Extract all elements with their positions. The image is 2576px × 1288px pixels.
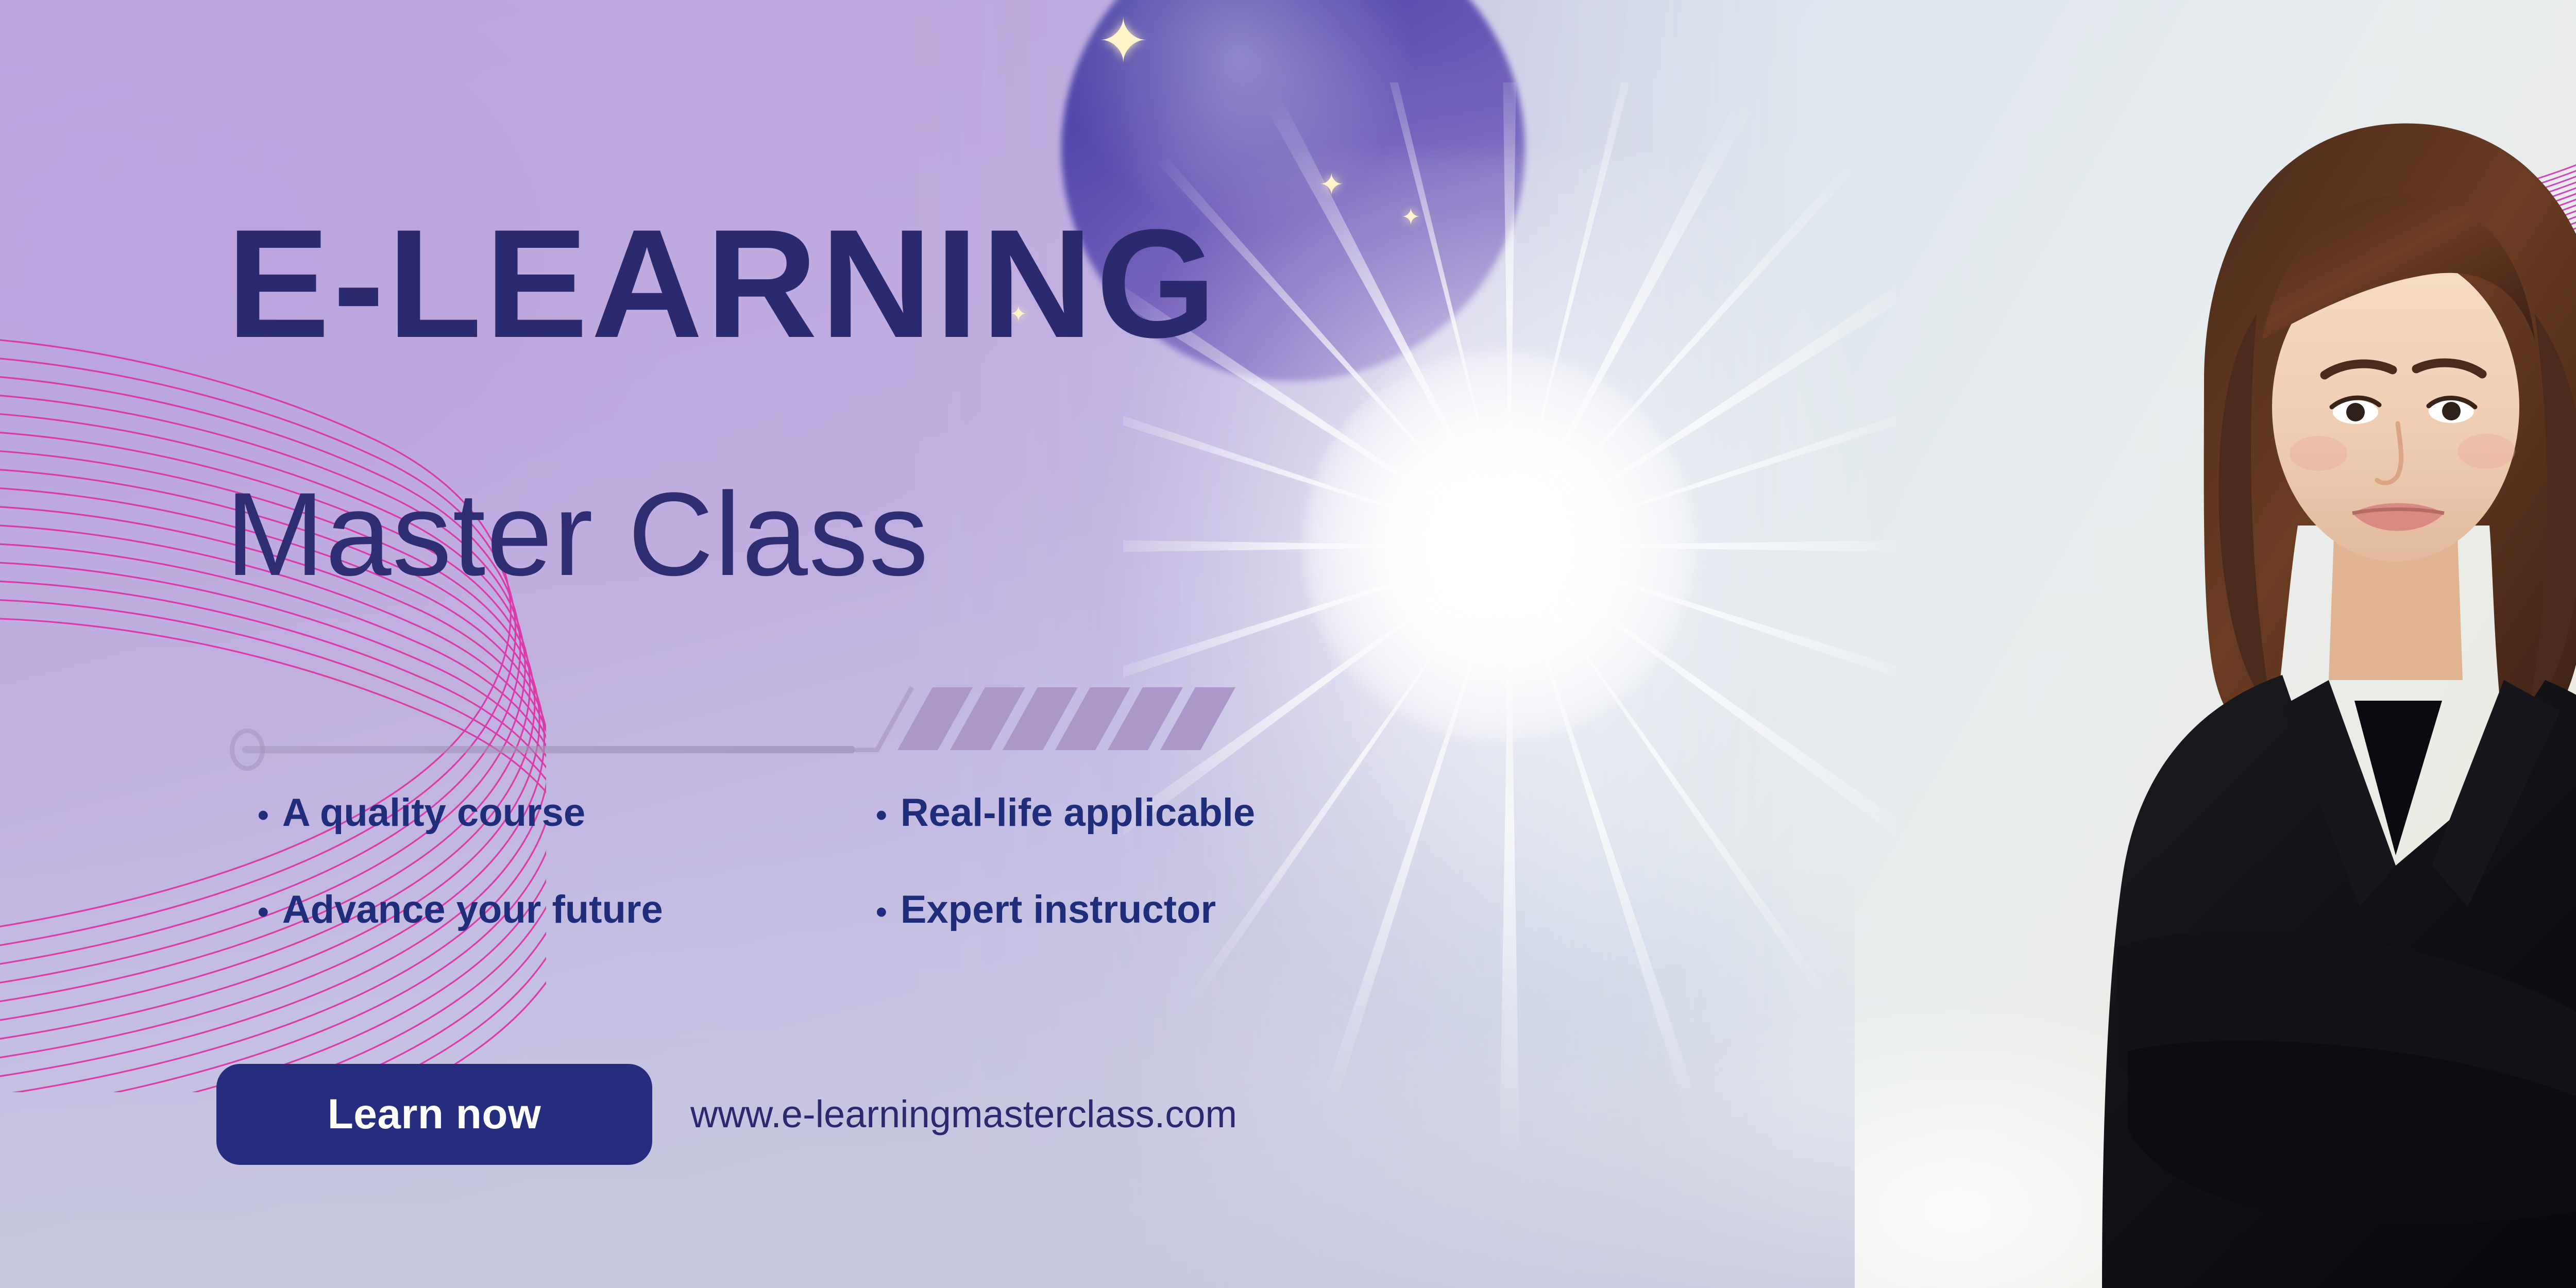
feature-list: • A quality course • Advance your future… — [258, 793, 1494, 987]
list-item-label: Advance your future — [282, 890, 663, 929]
accent-line — [242, 746, 855, 753]
feature-column-right: • Real-life applicable • Expert instruct… — [876, 793, 1494, 987]
list-item: • Expert instructor — [876, 890, 1494, 929]
list-item: • Real-life applicable — [876, 793, 1494, 833]
bullet-dot-icon: • — [876, 800, 887, 832]
sparkle-star-icon: ✦ — [1097, 10, 1149, 72]
list-item-label: Real-life applicable — [901, 793, 1255, 833]
banner-headline: E-LEARNING — [227, 206, 1219, 361]
feature-column-left: • A quality course • Advance your future — [258, 793, 876, 987]
website-url[interactable]: www.e-learningmasterclass.com — [690, 1092, 1237, 1136]
sparkle-star-icon: ✦ — [1401, 206, 1420, 229]
diagonal-stripes-icon — [855, 685, 1247, 752]
learn-now-button[interactable]: Learn now — [216, 1064, 652, 1165]
bullet-dot-icon: • — [258, 800, 269, 832]
banner-subheadline: Master Class — [226, 475, 929, 594]
list-item-label: Expert instructor — [901, 890, 1216, 929]
e-learning-promo-banner: ✦ ✦ ✦ ✦ — [0, 0, 2576, 1288]
bullet-dot-icon: • — [876, 896, 887, 928]
sparkle-star-icon: ✦ — [1319, 170, 1344, 200]
light-burst-core — [1303, 350, 1695, 742]
list-item-label: A quality course — [282, 793, 585, 833]
list-item: • A quality course — [258, 793, 876, 833]
feature-row: • A quality course • Advance your future… — [258, 793, 1494, 987]
list-item: • Advance your future — [258, 890, 876, 929]
bullet-dot-icon: • — [258, 896, 269, 928]
instructor-portrait-thumbs-up — [2040, 72, 2576, 1288]
